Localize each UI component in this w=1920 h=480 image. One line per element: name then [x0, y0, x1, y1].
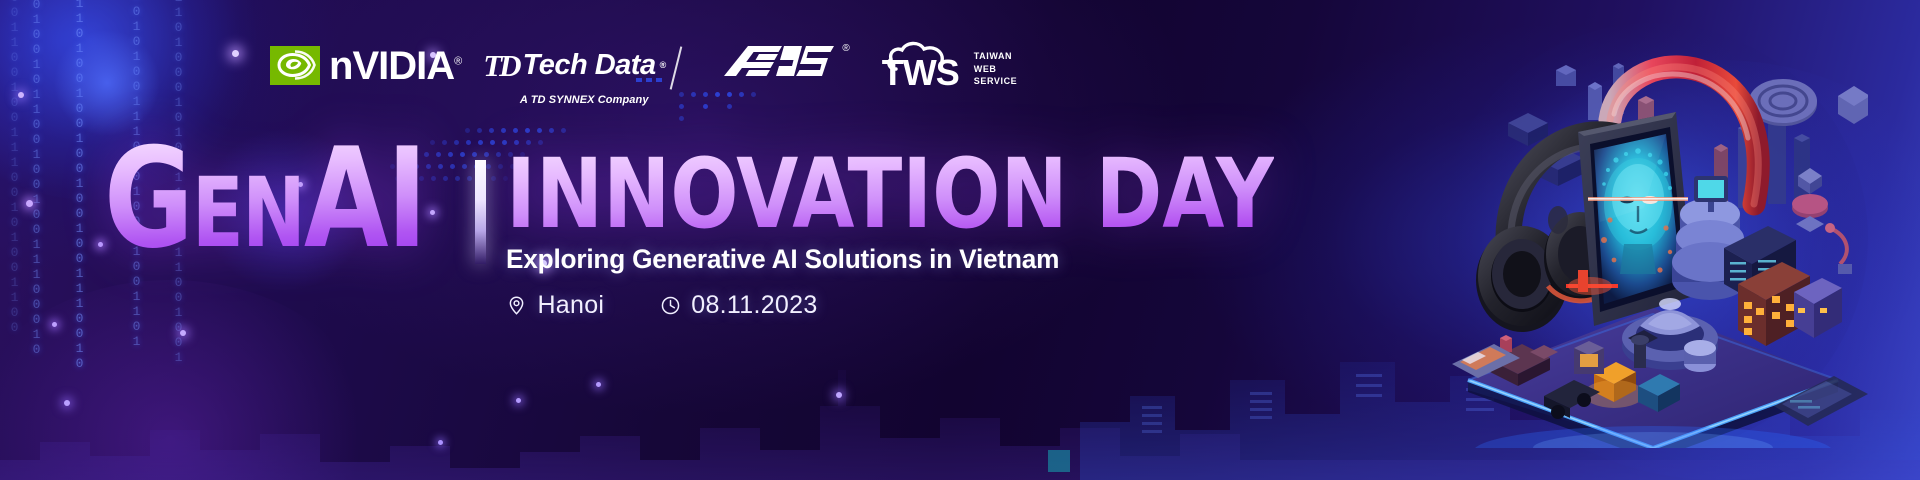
asus-trademark: ®	[842, 43, 849, 54]
event-location-label: Hanoi	[537, 291, 604, 320]
tws-sub-lines: TAIWAN WEB SERVICE	[974, 51, 1018, 91]
event-subtitle: Exploring Generative AI Solutions in Vie…	[506, 244, 1307, 275]
genai-letter-g: G	[104, 118, 192, 279]
event-title: INNOVATION DAY	[506, 152, 1274, 236]
isometric-ai-city-illustration	[1438, 8, 1868, 448]
sparkle-dot	[18, 92, 24, 98]
logo-asus[interactable]: ®	[722, 42, 840, 89]
nvidia-wordmark-upper: VIDIA	[352, 44, 454, 88]
genai-innovation-day-banner: 0010010110010010011100010 11010010010010…	[0, 0, 1920, 480]
sparkle-dot	[836, 392, 842, 398]
techdata-trademark: ®	[660, 61, 666, 70]
techdata-tagline: A TD SYNNEX Company	[489, 94, 679, 106]
sparkle-dot	[232, 50, 239, 57]
techdata-slash-accent	[669, 46, 682, 89]
logo-tech-data[interactable]: TD Tech Data ® A TD SYNNEX Company	[483, 50, 666, 81]
genai-letters-en: EN	[192, 157, 304, 269]
genai-letters-ai: AI	[304, 118, 426, 279]
tws-sub-line: SERVICE	[974, 76, 1018, 87]
title-divider-bar	[475, 160, 486, 264]
techdata-wordmark: Tech Data	[523, 51, 656, 80]
techdata-dot-accent	[636, 78, 662, 82]
asus-wordmark	[722, 42, 840, 84]
event-date: 08.11.2023	[660, 291, 817, 320]
logo-taiwan-web-service[interactable]: TWS TAIWAN WEB SERVICE	[882, 39, 1018, 91]
sparkle-dot	[52, 322, 57, 327]
location-pin-icon	[506, 295, 527, 316]
nvidia-eye-icon	[270, 46, 320, 85]
sparkle-dot	[516, 398, 521, 403]
headline-block: GENAI INNOVATION DAY Exploring Generativ…	[104, 140, 1332, 320]
clock-icon	[660, 295, 681, 316]
sparkle-dot	[596, 382, 601, 387]
tws-sub-line: WEB	[974, 64, 1018, 75]
event-location: Hanoi	[506, 291, 604, 320]
binary-stream: 1101001001001001001110010	[73, 0, 86, 371]
event-meta-row: Hanoi 08.11.2023	[506, 291, 1332, 320]
tws-sub-line: TAIWAN	[974, 51, 1018, 62]
sparkle-dot	[180, 330, 186, 336]
nvidia-trademark: ®	[454, 56, 461, 68]
sparkle-dot	[64, 400, 70, 406]
sparkle-dot	[26, 200, 33, 207]
nvidia-wordmark-lower: n	[329, 44, 352, 88]
genai-brand-title: GENAI	[104, 140, 426, 257]
binary-stream: 0010010110010010011100010	[30, 0, 43, 357]
techdata-monogram: TD	[483, 50, 518, 81]
event-date-label: 08.11.2023	[691, 291, 817, 320]
partner-logo-row: nVIDIA® TD Tech Data ® A TD SYNNEX Compa…	[270, 36, 1017, 94]
binary-stream: 0100110010011100101001100	[8, 0, 21, 335]
logo-nvidia[interactable]: nVIDIA®	[270, 45, 461, 85]
sparkle-dot	[438, 440, 443, 445]
sparkle-dot	[98, 242, 103, 247]
nvidia-wordmark: nVIDIA®	[329, 46, 461, 86]
tws-wordmark: TWS	[882, 55, 959, 91]
